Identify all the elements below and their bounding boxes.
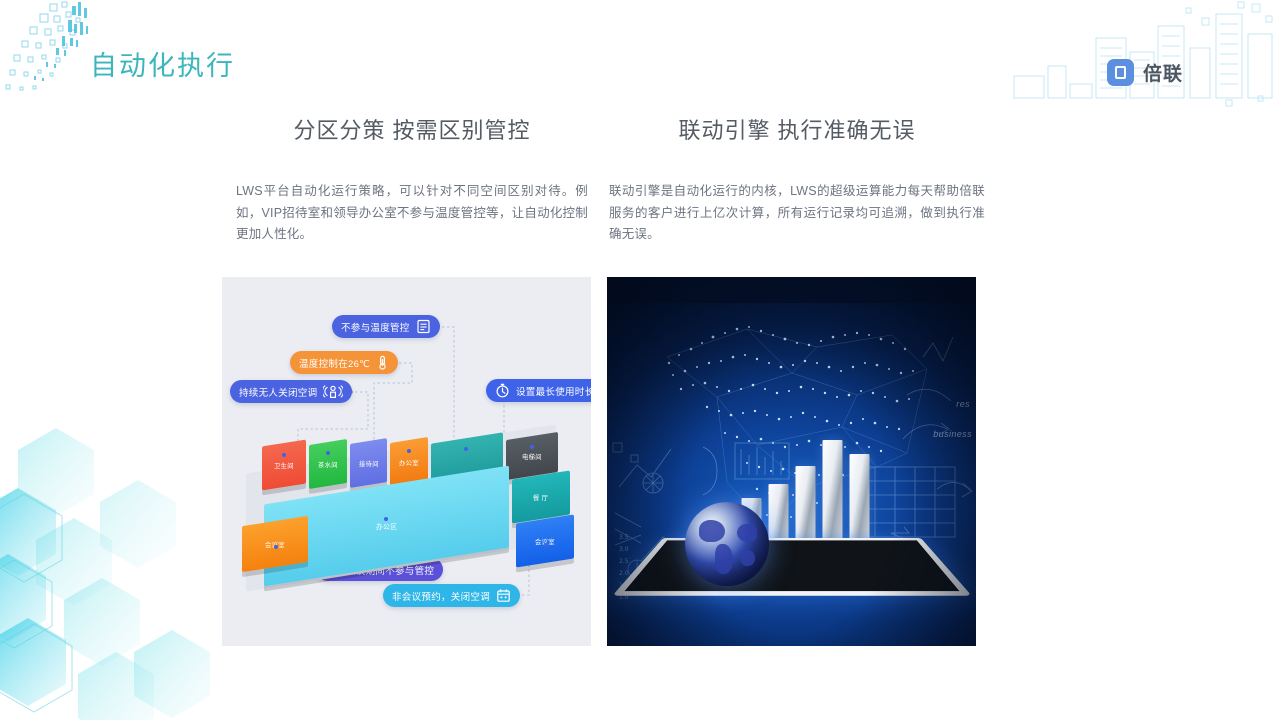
chip-no-temperature-control[interactable]: 不参与温度管控: [332, 315, 440, 338]
room-label: 茶水间: [318, 460, 338, 469]
rounded-square-logo-icon: [1107, 59, 1134, 86]
chip-label: 温度控制在26℃: [299, 356, 370, 370]
thermometer-icon: [376, 355, 389, 370]
stopwatch-icon: [495, 383, 510, 398]
bigdata-card: 3.53.0 2.52.0 1.51.0 res business: [607, 277, 976, 646]
room-label: 电梯间: [522, 452, 542, 461]
column-linkage-engine: 联动引擎 执行准确无误 联动引擎是自动化运行的内核，LWS的超级运算能力每天帮助…: [607, 118, 987, 246]
page-title: 自动化执行: [90, 53, 235, 80]
vignette-overlay: [607, 277, 976, 646]
chip-max-usage-duration[interactable]: 设置最长使用时长: [486, 379, 591, 402]
slide-header: 自动化执行 倍联: [0, 0, 1280, 112]
media-cards: 不参与温度管控 温度控制在26℃ 持续无人关闭空调: [0, 277, 1280, 646]
column-body: 联动引擎是自动化运行的内核，LWS的超级运算能力每天帮助倍联服务的客户进行上亿次…: [607, 181, 987, 246]
column-heading: 联动引擎 执行准确无误: [607, 118, 987, 152]
room-label: 卫生间: [274, 461, 294, 470]
column-body: LWS平台自动化运行策略，可以针对不同空间区别对待。例如，VIP招待室和领导办公…: [222, 181, 602, 246]
column-zoning-policy: 分区分策 按需区别管控 LWS平台自动化运行策略，可以针对不同空间区别对待。例如…: [222, 118, 602, 246]
chip-label: 设置最长使用时长: [516, 384, 591, 398]
room-label: 接待间: [359, 459, 379, 468]
column-heading: 分区分策 按需区别管控: [222, 118, 602, 152]
chip-no-presence-shutdown[interactable]: 持续无人关闭空调: [230, 380, 352, 403]
room-label: 办公区: [376, 521, 397, 531]
room-label: 餐 厅: [533, 493, 548, 502]
room-restroom[interactable]: 卫生间: [262, 440, 306, 491]
floorplan-diagram: 不参与温度管控 温度控制在26℃ 持续无人关闭空调: [222, 277, 591, 646]
brand-name: 倍联: [1143, 59, 1183, 86]
room-meeting-right[interactable]: 会议室: [516, 514, 574, 567]
chip-label: 持续无人关闭空调: [239, 385, 317, 399]
bigdata-artwork: 3.53.0 2.52.0 1.51.0 res business: [607, 277, 976, 646]
room-label: 办公室: [399, 458, 419, 467]
chip-label: 不参与温度管控: [341, 320, 410, 334]
floorplan-card: 不参与温度管控 温度控制在26℃ 持续无人关闭空调: [222, 277, 591, 646]
chip-temperature-26[interactable]: 温度控制在26℃: [290, 351, 398, 374]
motion-sensor-icon: [323, 384, 343, 399]
document-list-icon: [416, 319, 431, 334]
brand-logo: 倍联: [1107, 59, 1183, 86]
room-pantry[interactable]: 茶水间: [309, 439, 347, 489]
room-reception[interactable]: 接待间: [350, 438, 387, 488]
isometric-floor: 卫生间 茶水间 接待间 办公室 special 电梯间 餐 厅: [234, 425, 579, 625]
